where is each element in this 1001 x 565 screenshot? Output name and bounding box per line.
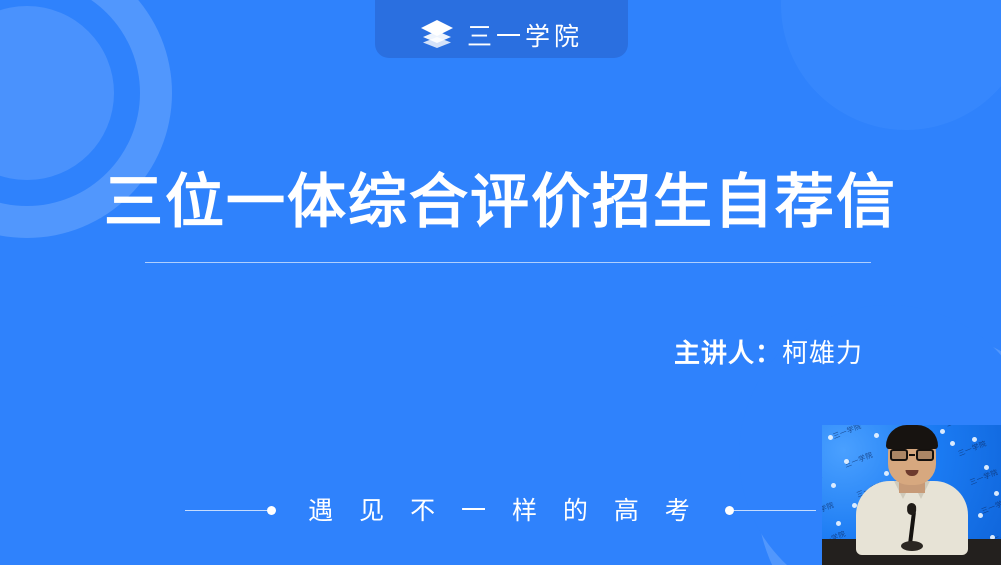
webcam-sparkle bbox=[844, 459, 849, 464]
webcam-sparkle bbox=[994, 491, 999, 496]
presenter-name: 柯雄力 bbox=[782, 339, 863, 369]
tagline-dot-left bbox=[267, 506, 276, 515]
webcam-person-hair bbox=[886, 425, 938, 449]
webcam-sparkle bbox=[972, 437, 977, 442]
webcam-sparkle bbox=[828, 435, 833, 440]
webcam-sparkle bbox=[831, 483, 836, 488]
webcam-overlay[interactable]: 三一学院三一学院三一学院三一学院三一学院三一学院三一学院三一学院三一学院三一学院… bbox=[822, 425, 1001, 565]
title-divider bbox=[145, 262, 871, 263]
org-name: 三一学院 bbox=[467, 24, 583, 49]
org-badge: 三一学院 bbox=[375, 0, 628, 58]
tagline-rule-right bbox=[734, 510, 816, 511]
presentation-slide: 三一学院 三位一体综合评价招生自荐信 主讲人：柯雄力 遇 见 不 一 样 的 高… bbox=[0, 0, 1001, 565]
webcam-sparkle bbox=[950, 441, 955, 446]
glasses-bridge bbox=[909, 454, 915, 456]
background-ring-dot bbox=[0, 6, 114, 180]
glasses-lens-left bbox=[890, 449, 908, 461]
background-corner-wedge bbox=[781, 0, 1001, 130]
presenter-label: 主讲人： bbox=[674, 339, 782, 369]
graduation-cap-icon bbox=[420, 19, 454, 49]
tagline-rule-left bbox=[185, 510, 267, 511]
glasses-icon bbox=[890, 448, 934, 461]
webcam-sparkle bbox=[978, 513, 983, 518]
page-title: 三位一体综合评价招生自荐信 bbox=[0, 172, 1001, 231]
microphone-base bbox=[901, 541, 923, 551]
webcam-sparkle bbox=[874, 433, 879, 438]
tagline-dot-right bbox=[725, 506, 734, 515]
webcam-sparkle bbox=[940, 429, 945, 434]
webcam-sparkle bbox=[836, 521, 841, 526]
webcam-sparkle bbox=[984, 465, 989, 470]
presenter-line: 主讲人：柯雄力 bbox=[0, 341, 863, 367]
glasses-lens-right bbox=[916, 449, 934, 461]
tagline-text: 遇 见 不 一 样 的 高 考 bbox=[276, 498, 725, 523]
microphone-head bbox=[907, 503, 916, 515]
